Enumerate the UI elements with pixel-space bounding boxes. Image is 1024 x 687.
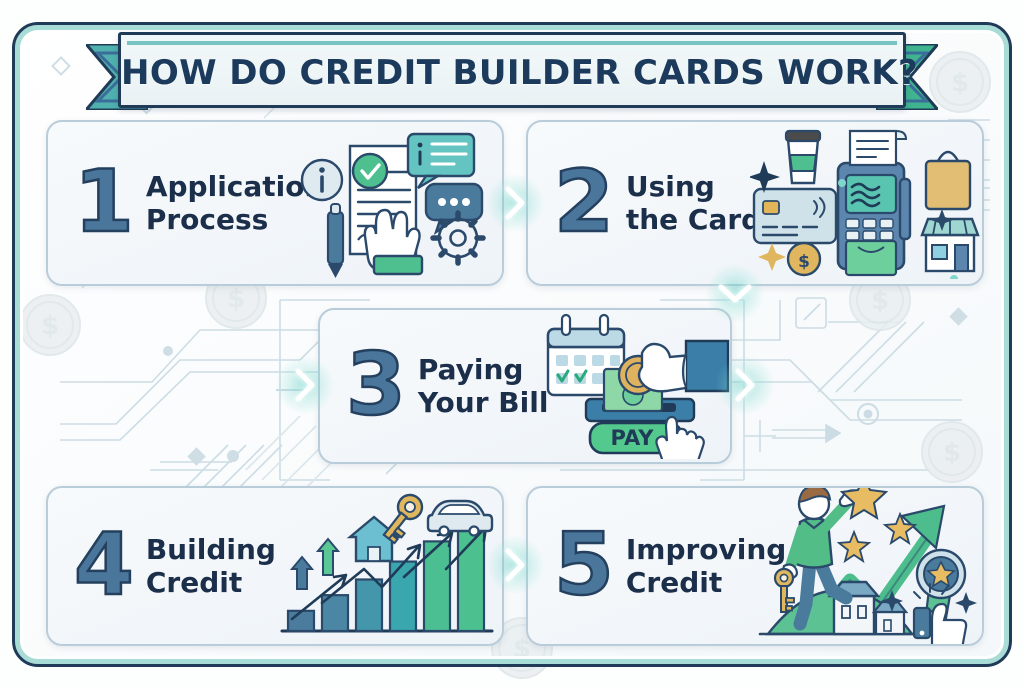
step-title-3-line1: Paying	[418, 353, 549, 386]
step-card-5[interactable]: 5 Improving Credit	[526, 486, 984, 646]
step-card-3[interactable]: 3 Paying Your Bill	[318, 308, 732, 464]
step-number-4: 4	[74, 526, 134, 605]
card-payment-art: $	[750, 127, 980, 279]
bar-3	[356, 579, 382, 631]
pay-button-label: PAY	[611, 426, 655, 450]
credit-growth-chart-art	[278, 491, 496, 641]
bar-6	[458, 523, 484, 631]
step-number-3: 3	[346, 346, 406, 425]
step-title-2: Using the Card	[626, 170, 761, 236]
step-number-5: 5	[554, 526, 614, 605]
step-title-3-line2: Your Bill	[418, 386, 549, 419]
step-title-4-line2: Credit	[146, 566, 276, 599]
banner-plate: HOW DO CREDIT BUILDER CARDS WORK?	[118, 32, 906, 108]
step-number-1: 1	[74, 163, 134, 242]
step-number-2: 2	[554, 163, 614, 242]
step-card-1[interactable]: 1 Application Process	[46, 120, 504, 286]
bar-1	[288, 611, 314, 631]
step-card-4[interactable]: 4 Building Credit	[46, 486, 504, 646]
infographic-canvas: $	[0, 0, 1024, 687]
application-document-art	[298, 128, 498, 278]
credit-success-art	[738, 486, 984, 646]
svg-text:$: $	[798, 252, 810, 272]
step-title-4-line1: Building	[146, 533, 276, 566]
step-title-3: Paying Your Bill	[418, 353, 549, 419]
step-title-2-line1: Using	[626, 170, 761, 203]
page-title: HOW DO CREDIT BUILDER CARDS WORK?	[121, 53, 903, 93]
step-title-2-line2: the Card	[626, 203, 761, 236]
title-banner: HOW DO CREDIT BUILDER CARDS WORK?	[86, 18, 938, 110]
bill-payment-art: PAY	[546, 313, 732, 459]
step-title-4: Building Credit	[146, 533, 276, 599]
step-card-2[interactable]: 2 Using the Card	[526, 120, 984, 286]
